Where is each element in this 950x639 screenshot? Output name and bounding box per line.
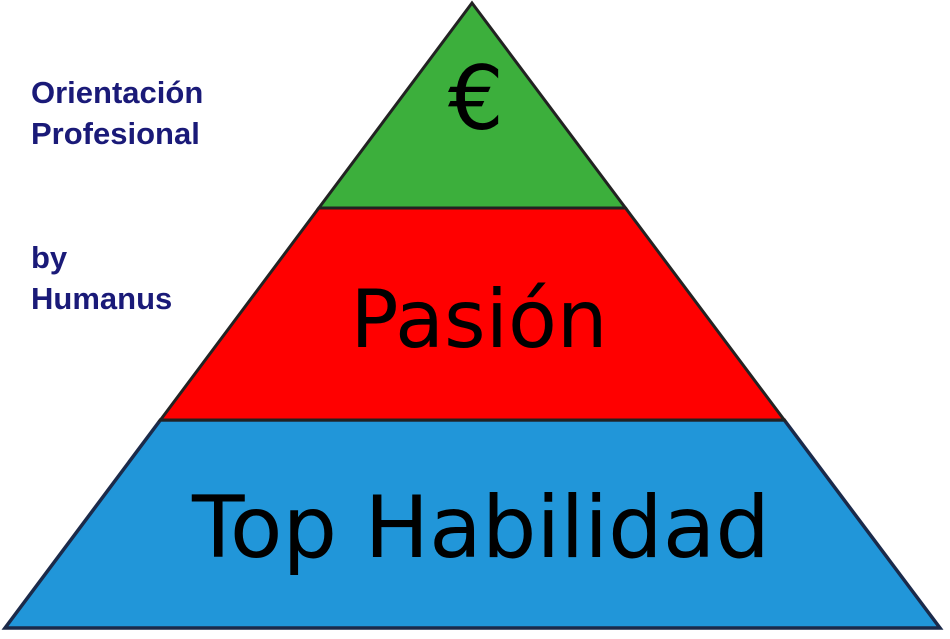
byline-caption: by Humanus: [31, 238, 261, 320]
brand-caption: Orientación Profesional: [31, 73, 261, 155]
pyramid-level-top-label: €: [448, 47, 504, 150]
pyramid-level-bottom-label: Top Habilidad: [191, 478, 770, 578]
brand-caption-line-1: Orientación: [31, 73, 261, 114]
pyramid-level-middle-label: Pasión: [350, 273, 607, 366]
brand-caption-line-2: Profesional: [31, 114, 261, 155]
byline-caption-line-1: by: [31, 238, 261, 279]
pyramid-infographic-canvas: € Pasión Top Habilidad Orientación Profe…: [0, 0, 950, 639]
byline-caption-line-2: Humanus: [31, 279, 261, 320]
